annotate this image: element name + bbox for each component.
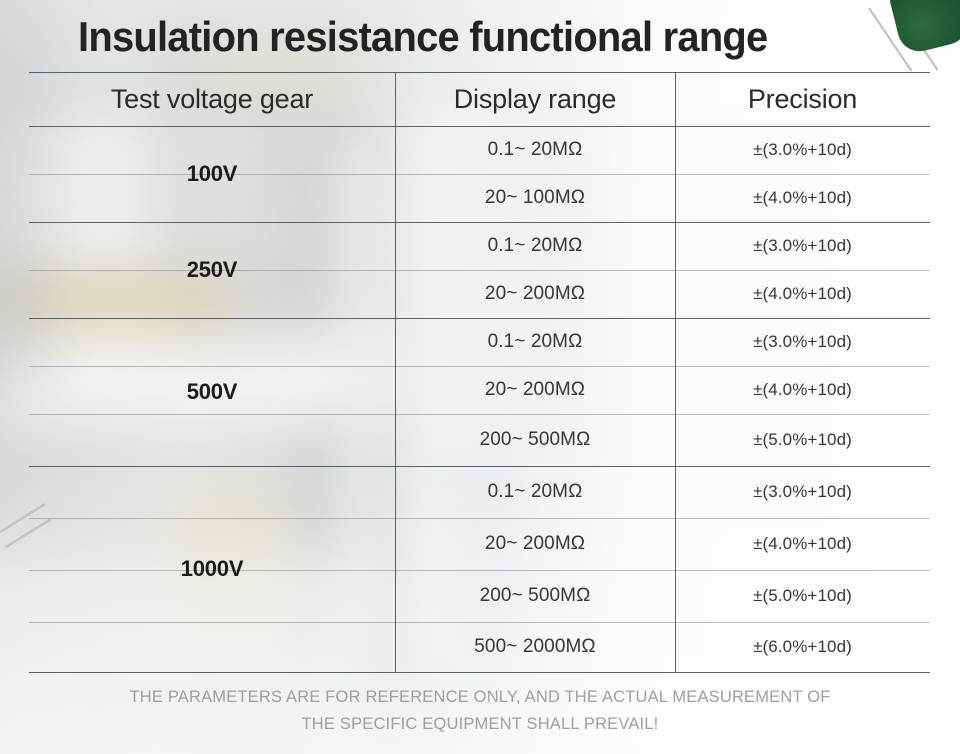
header-precision: Precision [675,72,930,126]
voltage-gear-1000v: 1000V [29,466,395,672]
precision-value: ±(5.0%+10d) [675,414,930,466]
precision-value: ±(5.0%+10d) [675,570,930,622]
header-test-voltage-gear: Test voltage gear [29,72,395,126]
display-range: 0.1~ 20MΩ [395,318,675,366]
disclaimer: THE PARAMETERS ARE FOR REFERENCE ONLY, A… [14,683,945,737]
precision-value: ±(4.0%+10d) [675,174,930,222]
precision-value: ±(3.0%+10d) [675,466,930,518]
display-range: 200~ 500MΩ [395,414,675,466]
display-range: 20~ 200MΩ [395,270,675,318]
precision-value: ±(3.0%+10d) [675,222,930,270]
display-range: 0.1~ 20MΩ [395,466,675,518]
precision-value: ±(6.0%+10d) [675,622,930,672]
spec-table: Test voltage gear Display range Precisio… [29,72,930,672]
precision-value: ±(3.0%+10d) [675,126,930,174]
display-range: 200~ 500MΩ [395,570,675,622]
precision-value: ±(3.0%+10d) [675,318,930,366]
header-display-range: Display range [395,72,675,126]
display-range: 0.1~ 20MΩ [395,126,675,174]
page-root: 1000V 104J Test voltage gear Display ran… [0,0,960,754]
voltage-gear-500v: 500V [29,318,395,466]
display-range: 20~ 100MΩ [395,174,675,222]
precision-value: ±(4.0%+10d) [675,270,930,318]
display-range: 0.1~ 20MΩ [395,222,675,270]
precision-value: ±(4.0%+10d) [675,366,930,414]
voltage-gear-100v: 100V [29,126,395,222]
rule-table-bottom [29,672,930,673]
disclaimer-line-2: THE SPECIFIC EQUIPMENT SHALL PREVAIL! [14,710,945,737]
page-title: Insulation resistance functional range [78,13,767,61]
voltage-gear-250v: 250V [29,222,395,318]
green-capacitor-body [887,0,960,56]
precision-value: ±(4.0%+10d) [675,518,930,570]
display-range: 500~ 2000MΩ [395,622,675,672]
display-range: 20~ 200MΩ [395,518,675,570]
disclaimer-line-1: THE PARAMETERS ARE FOR REFERENCE ONLY, A… [14,683,945,710]
display-range: 20~ 200MΩ [395,366,675,414]
